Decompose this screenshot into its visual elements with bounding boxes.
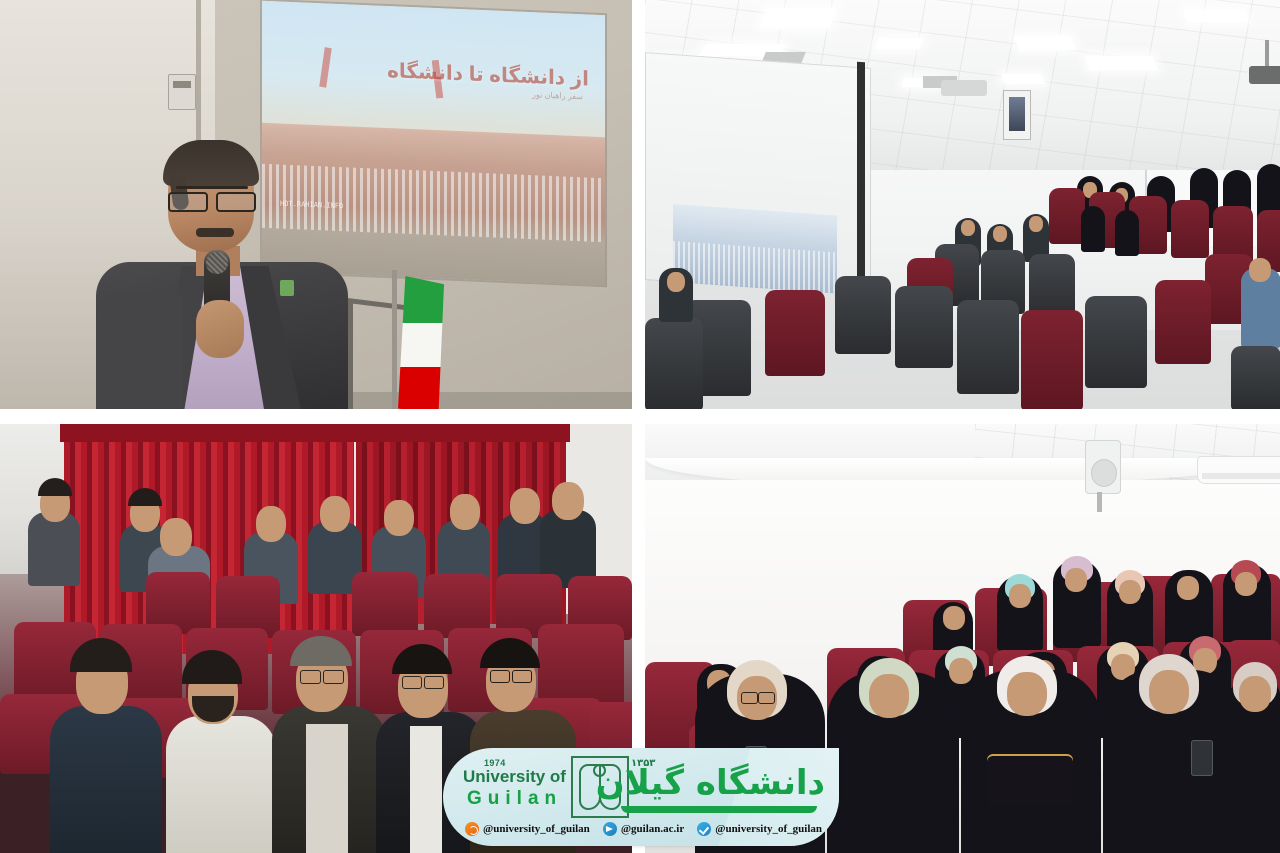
calligraphy-swash (621, 806, 817, 813)
auditorium-seat[interactable] (1155, 280, 1211, 364)
auditorium-seat[interactable] (352, 572, 418, 636)
wall-thermostat (168, 74, 196, 110)
attendee-woman (1081, 206, 1105, 252)
social-handles: @university_of_guilan @guilan.ac.ir @uni… (465, 822, 822, 836)
wall-loudspeaker-icon (1085, 440, 1121, 494)
air-conditioner-icon (1197, 456, 1280, 484)
auditorium-seat[interactable] (895, 286, 953, 368)
attendee-face (1119, 580, 1141, 604)
attendee-face (552, 482, 584, 520)
attendee-face (1249, 258, 1271, 282)
ceiling-light-panel (1015, 36, 1076, 50)
glasses-icon (300, 670, 344, 682)
curtain-rail (60, 424, 570, 442)
auditorium-seat[interactable] (1021, 310, 1083, 409)
attendee-face (1235, 572, 1257, 596)
ceiling-projector-icon (941, 80, 987, 96)
attendee-face (384, 500, 414, 536)
speaker-arm (96, 292, 182, 409)
loudspeaker-mount (1097, 492, 1102, 512)
social-eitaa[interactable]: @university_of_guilan (465, 822, 590, 836)
attendee-face (993, 226, 1007, 242)
auditorium-seat[interactable] (957, 300, 1019, 394)
attendee-shirt (410, 726, 442, 853)
ceiling-light-panel (875, 38, 924, 49)
attendee-face (320, 496, 350, 532)
handbag (987, 754, 1073, 806)
projection-screen (645, 52, 871, 296)
glasses-icon (402, 676, 444, 687)
eitaa-icon (465, 822, 479, 836)
attendee-face (1009, 584, 1031, 608)
speaker-moustache (196, 228, 234, 237)
social-handle-text: @guilan.ac.ir (621, 823, 684, 835)
social-bale[interactable]: @university_of_guilan (697, 822, 822, 836)
attendee-face (256, 506, 286, 542)
auditorium-seat[interactable] (1231, 346, 1280, 409)
auditorium-seat[interactable] (1049, 188, 1085, 244)
attendee-face (943, 606, 965, 630)
attendee-face (1065, 568, 1087, 592)
auditorium-seat[interactable] (1171, 200, 1209, 258)
photo-top-right[interactable] (645, 0, 1280, 409)
university-logo-banner: 1974 University of Guilan ۱۳۵۳ دانشگاه گ… (443, 748, 839, 846)
speaker-brow (176, 186, 248, 189)
attendee-shirt (306, 724, 348, 853)
social-handle-text: @university_of_guilan (715, 823, 822, 835)
attendee-face (510, 488, 540, 524)
attendee-face (949, 658, 973, 684)
social-handle-text: @university_of_guilan (483, 823, 590, 835)
ceiling-light-panel (759, 8, 837, 28)
social-telegram[interactable]: @guilan.ac.ir (603, 822, 684, 836)
bale-icon (697, 822, 711, 836)
slide-crowd (262, 122, 605, 244)
auditorium-seat[interactable] (765, 290, 825, 376)
auditorium-seat[interactable] (1085, 296, 1147, 388)
mobile-phone-icon (1191, 740, 1213, 776)
auditorium-seat[interactable] (645, 318, 703, 409)
attendee-woman (1115, 210, 1139, 256)
university-label-line1: University of (463, 768, 566, 785)
attendee-face (869, 674, 909, 718)
attendee-man (50, 706, 162, 853)
attendee-face (1007, 672, 1047, 716)
university-label-line2: Guilan (467, 789, 562, 808)
flag-pole (392, 270, 397, 409)
attendee-face (1177, 576, 1199, 600)
university-name-persian: دانشگاه گیلان (596, 756, 825, 810)
attendee-face (667, 272, 685, 292)
glasses-icon (741, 692, 775, 702)
photo-top-left[interactable]: از دانشگاه تا دانشگاه سفر راهیان نور HOT… (0, 0, 632, 409)
wall-portrait-frame (1003, 90, 1031, 140)
screen-frame-edge (857, 62, 865, 295)
projected-slide-image (673, 204, 837, 293)
ceiling-light-panel (1084, 56, 1157, 70)
mic-stand-post (348, 302, 353, 409)
attendee-face (450, 494, 480, 530)
attendee-face (160, 518, 192, 556)
attendee-man (28, 512, 80, 586)
speaker-lapel-badge (280, 280, 294, 296)
attendee-face (1239, 676, 1271, 712)
projection-screen: از دانشگاه تا دانشگاه سفر راهیان نور HOT… (262, 1, 605, 285)
speaker-hair (163, 140, 259, 186)
speaker-hand (196, 300, 244, 358)
ceiling-projector-icon (1249, 66, 1280, 84)
photo-collage: از دانشگاه تا دانشگاه سفر راهیان نور HOT… (0, 0, 1280, 853)
glasses-icon (168, 192, 256, 208)
attendee-face (1029, 216, 1043, 232)
telegram-icon (603, 822, 617, 836)
ceiling-light-panel (1183, 10, 1250, 22)
ceiling-light-panel (1001, 74, 1044, 84)
auditorium-seat[interactable] (835, 276, 891, 354)
attendee-man (166, 716, 276, 853)
attendee-face (961, 220, 975, 236)
attendee-face (1149, 670, 1189, 714)
projector-mount-arm (1265, 40, 1269, 68)
glasses-icon (490, 670, 532, 681)
iranian-flag (398, 276, 444, 409)
